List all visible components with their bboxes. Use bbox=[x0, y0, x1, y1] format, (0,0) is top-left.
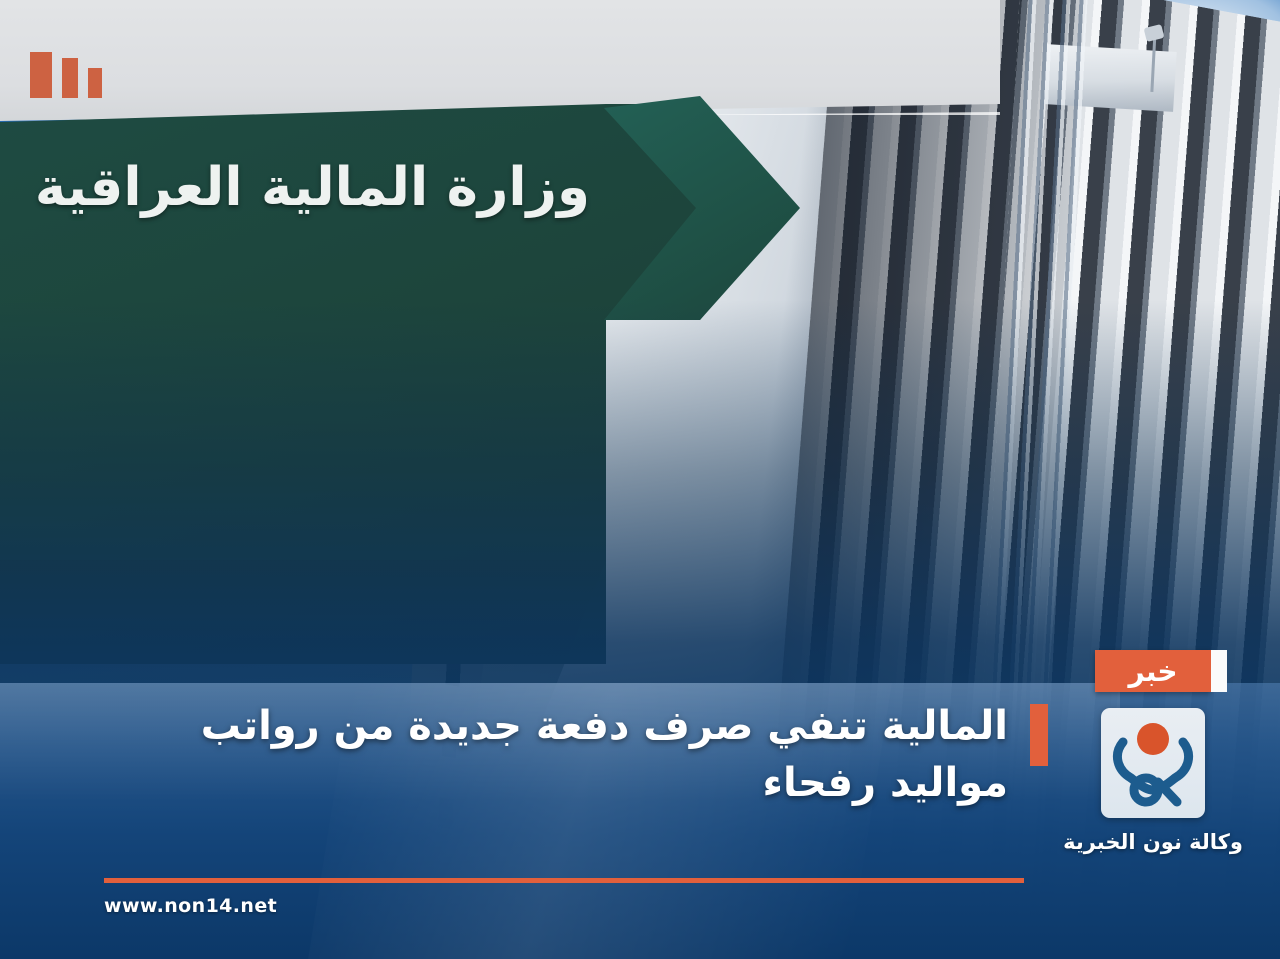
logo-dot-icon bbox=[1137, 723, 1169, 755]
website-url[interactable]: www.non14.net bbox=[104, 895, 277, 917]
top-grey-band bbox=[0, 0, 1000, 121]
headline-text: المالية تنفي صرف دفعة جديدة من رواتب موا… bbox=[128, 698, 1008, 812]
news-badge-label: خبر bbox=[1128, 655, 1177, 688]
decor-bar-1 bbox=[30, 52, 52, 98]
headline-container: المالية تنفي صرف دفعة جديدة من رواتب موا… bbox=[100, 698, 1048, 812]
news-card: وزارة المالية العراقية المالية تنفي صرف … bbox=[0, 0, 1280, 959]
decor-bar-2 bbox=[62, 58, 78, 98]
decor-bar-3 bbox=[88, 68, 102, 98]
agency-logo[interactable] bbox=[1101, 708, 1205, 818]
decor-bars-icon bbox=[30, 52, 102, 98]
news-badge[interactable]: خبر bbox=[1095, 650, 1211, 692]
ministry-title: وزارة المالية العراقية bbox=[0, 150, 606, 225]
brand-column: خبر وكالة نون الخبرية bbox=[1048, 650, 1258, 854]
headline-accent-bar bbox=[1030, 704, 1048, 766]
news-badge-tip bbox=[1211, 650, 1227, 692]
footer-rule bbox=[104, 878, 1024, 883]
agency-name: وكالة نون الخبرية bbox=[1048, 830, 1258, 854]
